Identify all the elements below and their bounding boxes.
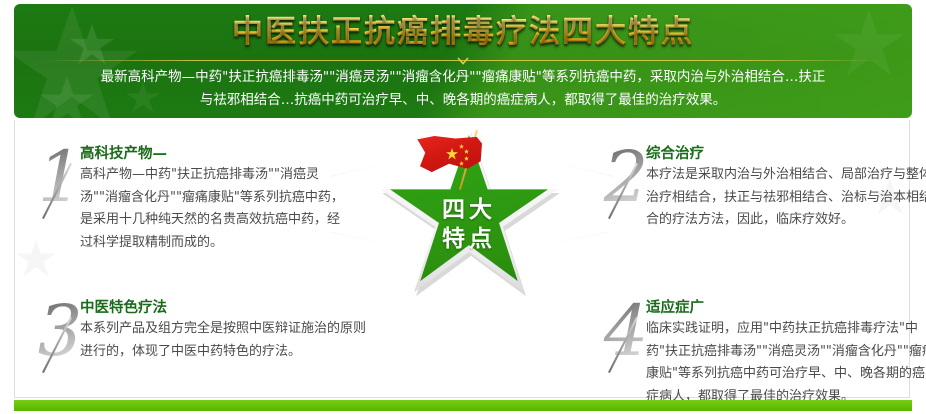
feature-text: 高科技产物— 高科产物—中药"扶正抗癌排毒汤""消癌灵汤""消瘤含化丹""瘤痛康… xyxy=(80,144,352,254)
flag-cloth xyxy=(416,136,482,178)
star-label-line2: 特点 xyxy=(380,225,558,254)
footer-bar xyxy=(14,400,912,411)
china-flag-icon xyxy=(418,132,500,188)
banner-subtitle: 最新高科产物—中药"扶正抗癌排毒汤""消癌灵汤""消瘤含化丹""瘤痛康贴"等系列… xyxy=(98,66,828,112)
star-label: 四大 特点 xyxy=(380,196,558,254)
feature-text: 综合治疗 本疗法是采取内治与外治相结合、局部治疗与整体治疗相结合，扶正与祛邪相结… xyxy=(646,144,926,232)
feature-body: 高科产物—中药"扶正抗癌排毒汤""消癌灵汤""消瘤含化丹""瘤痛康贴"等系列抗癌… xyxy=(80,164,352,254)
chevron-down-icon xyxy=(457,57,469,65)
feature-heading: 适应症广 xyxy=(646,298,926,318)
feature-text: 中医特色疗法 本系列产品及组方完全是按照中医辩证施治的原则进行的，体现了中医中药… xyxy=(80,298,370,363)
page-title: 中医扶正抗癌排毒疗法四大特点 xyxy=(14,10,912,54)
star-label-line1: 四大 xyxy=(380,196,558,225)
feature-text: 适应症广 临床实践证明，应用"中药扶正抗癌排毒疗法"中药"扶正抗癌排毒汤""消癌… xyxy=(646,298,926,408)
feature-heading: 综合治疗 xyxy=(646,144,926,164)
center-star-graphic: 四大 特点 xyxy=(380,128,562,314)
header-banner: 中医扶正抗癌排毒疗法四大特点 最新高科产物—中药"扶正抗癌排毒汤""消癌灵汤""… xyxy=(14,4,912,118)
feature-body: 临床实践证明，应用"中药扶正抗癌排毒疗法"中药"扶正抗癌排毒汤""消癌灵汤""消… xyxy=(646,318,926,408)
feature-body: 本疗法是采取内治与外治相结合、局部治疗与整体治疗相结合，扶正与祛邪相结合、治标与… xyxy=(646,164,926,232)
feature-heading: 高科技产物— xyxy=(80,144,352,164)
feature-heading: 中医特色疗法 xyxy=(80,298,370,318)
page-root: 中医扶正抗癌排毒疗法四大特点 最新高科产物—中药"扶正抗癌排毒汤""消癌灵汤""… xyxy=(0,0,926,414)
feature-body: 本系列产品及组方完全是按照中医辩证施治的原则进行的，体现了中医中药特色的疗法。 xyxy=(80,318,370,363)
